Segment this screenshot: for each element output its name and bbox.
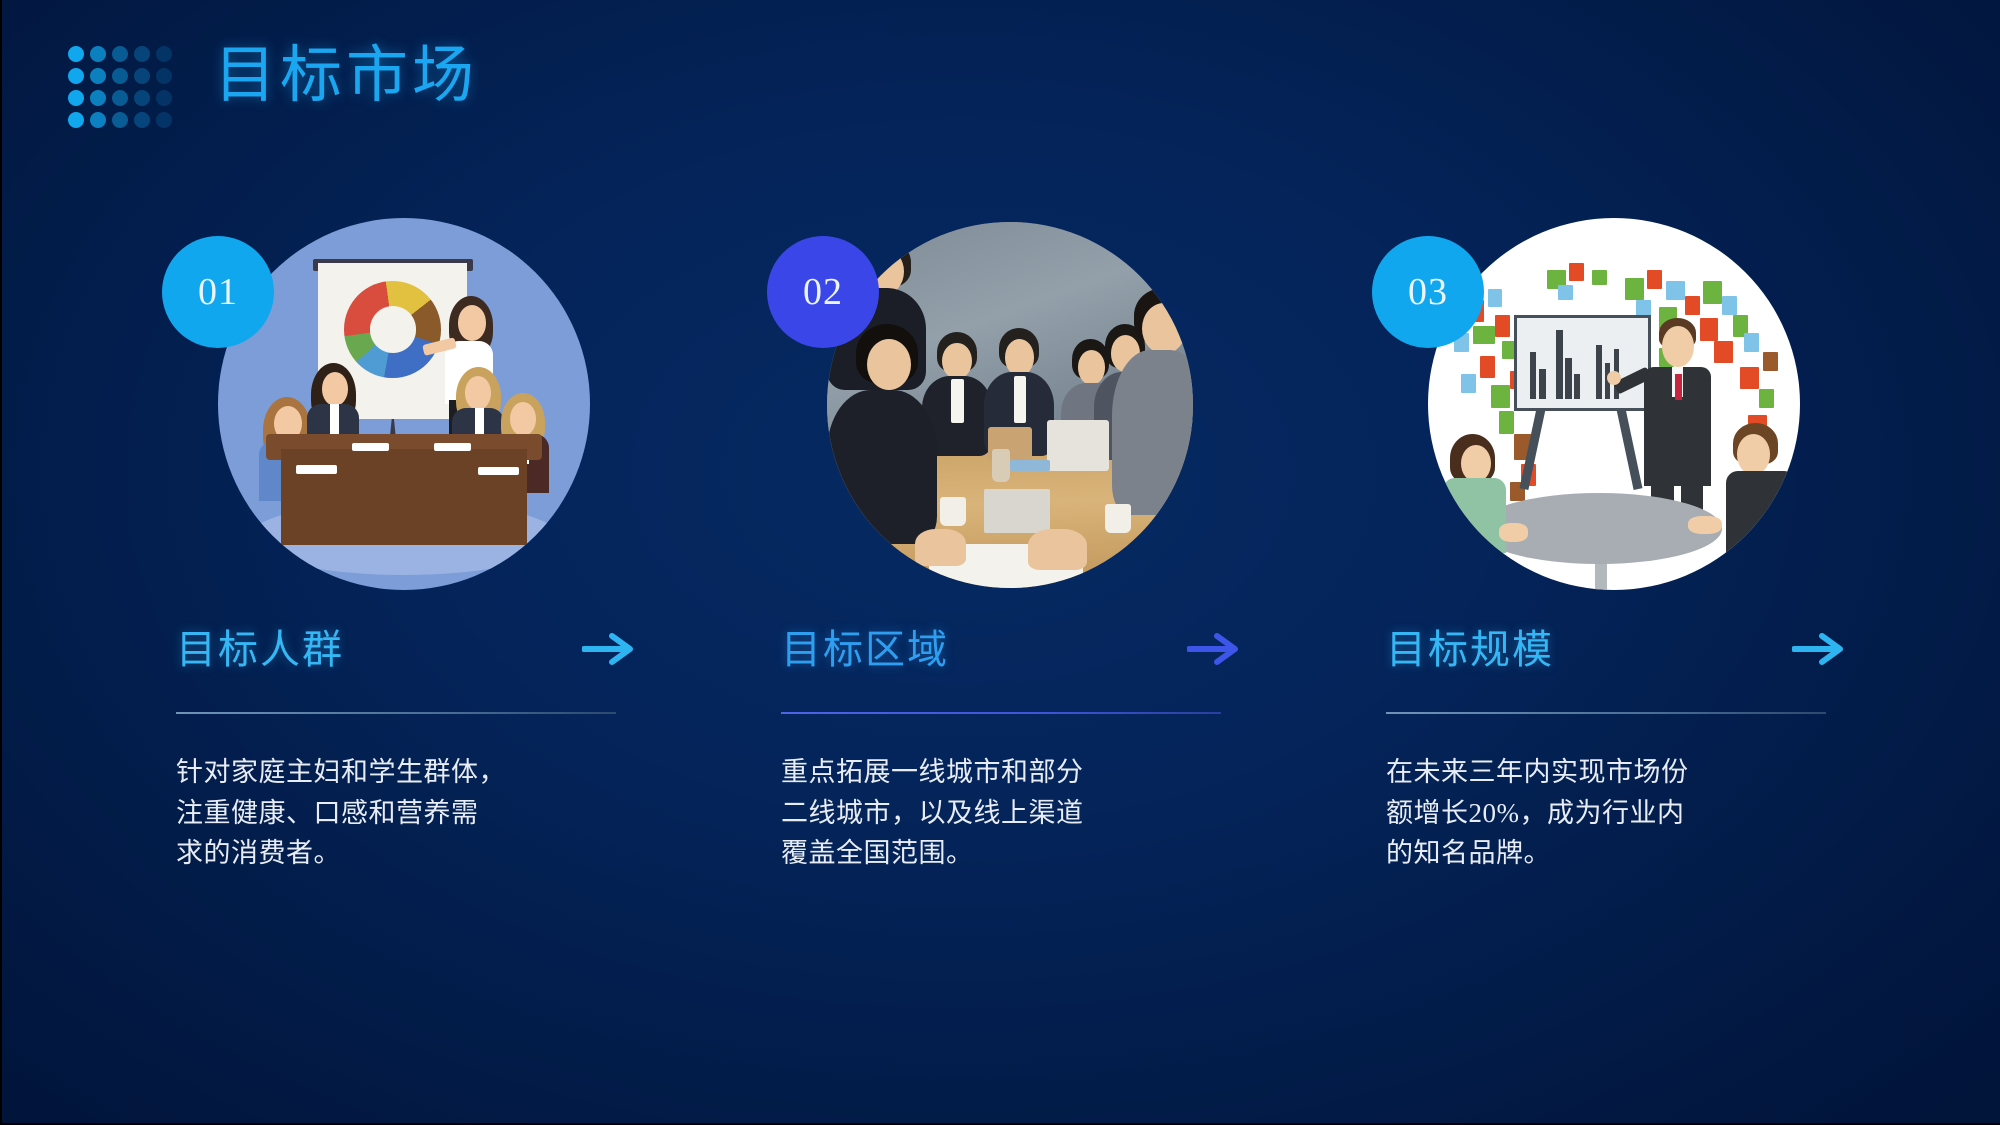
card-number-badge: 02 <box>767 236 879 348</box>
card-number-badge: 01 <box>162 236 274 348</box>
arrow-right-icon[interactable] <box>582 626 634 672</box>
bar-chart-board <box>1514 315 1652 412</box>
global-market-illustration <box>1428 218 1800 590</box>
page-title: 目标市场 <box>214 44 478 109</box>
card-body-text: 针对家庭主妇和学生群体， 注重健康、口感和营养需 求的消费者。 <box>176 752 556 874</box>
arrow-right-icon[interactable] <box>1792 626 1844 672</box>
card-divider <box>1386 712 1826 714</box>
card-number: 01 <box>198 270 238 314</box>
card-number-badge: 03 <box>1372 236 1484 348</box>
slide-root: 目标市场 <box>0 0 2000 1125</box>
donut-chart-icon <box>344 281 441 378</box>
card-body-text: 重点拓展一线城市和部分 二线城市，以及线上渠道 覆盖全国范围。 <box>781 752 1161 874</box>
card-title: 目标区域 <box>781 630 949 670</box>
card-target-region[interactable]: 02 目标区域 重点拓展一线城市和部分 二线城市，以及线上渠道 覆盖全国范围。 <box>767 218 1367 978</box>
card-number: 03 <box>1408 270 1448 314</box>
card-divider <box>781 712 1221 714</box>
meeting-illustration <box>218 218 590 590</box>
slide-header: 目标市场 <box>2 0 2000 170</box>
dot-grid-icon <box>68 46 178 134</box>
card-body-text: 在未来三年内实现市场份 额增长20%，成为行业内 的知名品牌。 <box>1386 752 1766 874</box>
card-target-scale[interactable]: 03 目标规模 在未来三年内实现市场份 额增长20%，成为行业内 的知名品牌。 <box>1372 218 1972 978</box>
card-divider <box>176 712 616 714</box>
card-title: 目标人群 <box>176 630 344 670</box>
card-title: 目标规模 <box>1386 630 1554 670</box>
cards-row: 01 目标人群 针对家庭主妇和学生群体， 注重健康、口感和营养需 求的消费者。 <box>2 218 2000 978</box>
card-target-audience[interactable]: 01 目标人群 针对家庭主妇和学生群体， 注重健康、口感和营养需 求的消费者。 <box>162 218 762 978</box>
business-meeting-photo <box>827 222 1193 588</box>
card-number: 02 <box>803 270 843 314</box>
arrow-right-icon[interactable] <box>1187 626 1239 672</box>
